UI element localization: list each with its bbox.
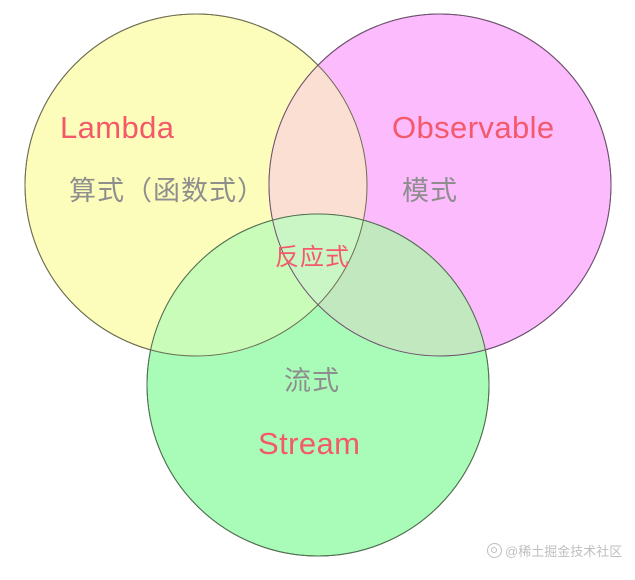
watermark-text: @稀土掘金技术社区 — [505, 541, 622, 560]
venn-diagram-canvas: Lambda 算式（函数式） Observable 模式 反应式 流式 Stre… — [0, 0, 635, 580]
venn-circles-graphic — [0, 0, 635, 580]
copyright-circle-icon — [487, 543, 502, 558]
watermark: @稀土掘金技术社区 — [487, 541, 622, 560]
